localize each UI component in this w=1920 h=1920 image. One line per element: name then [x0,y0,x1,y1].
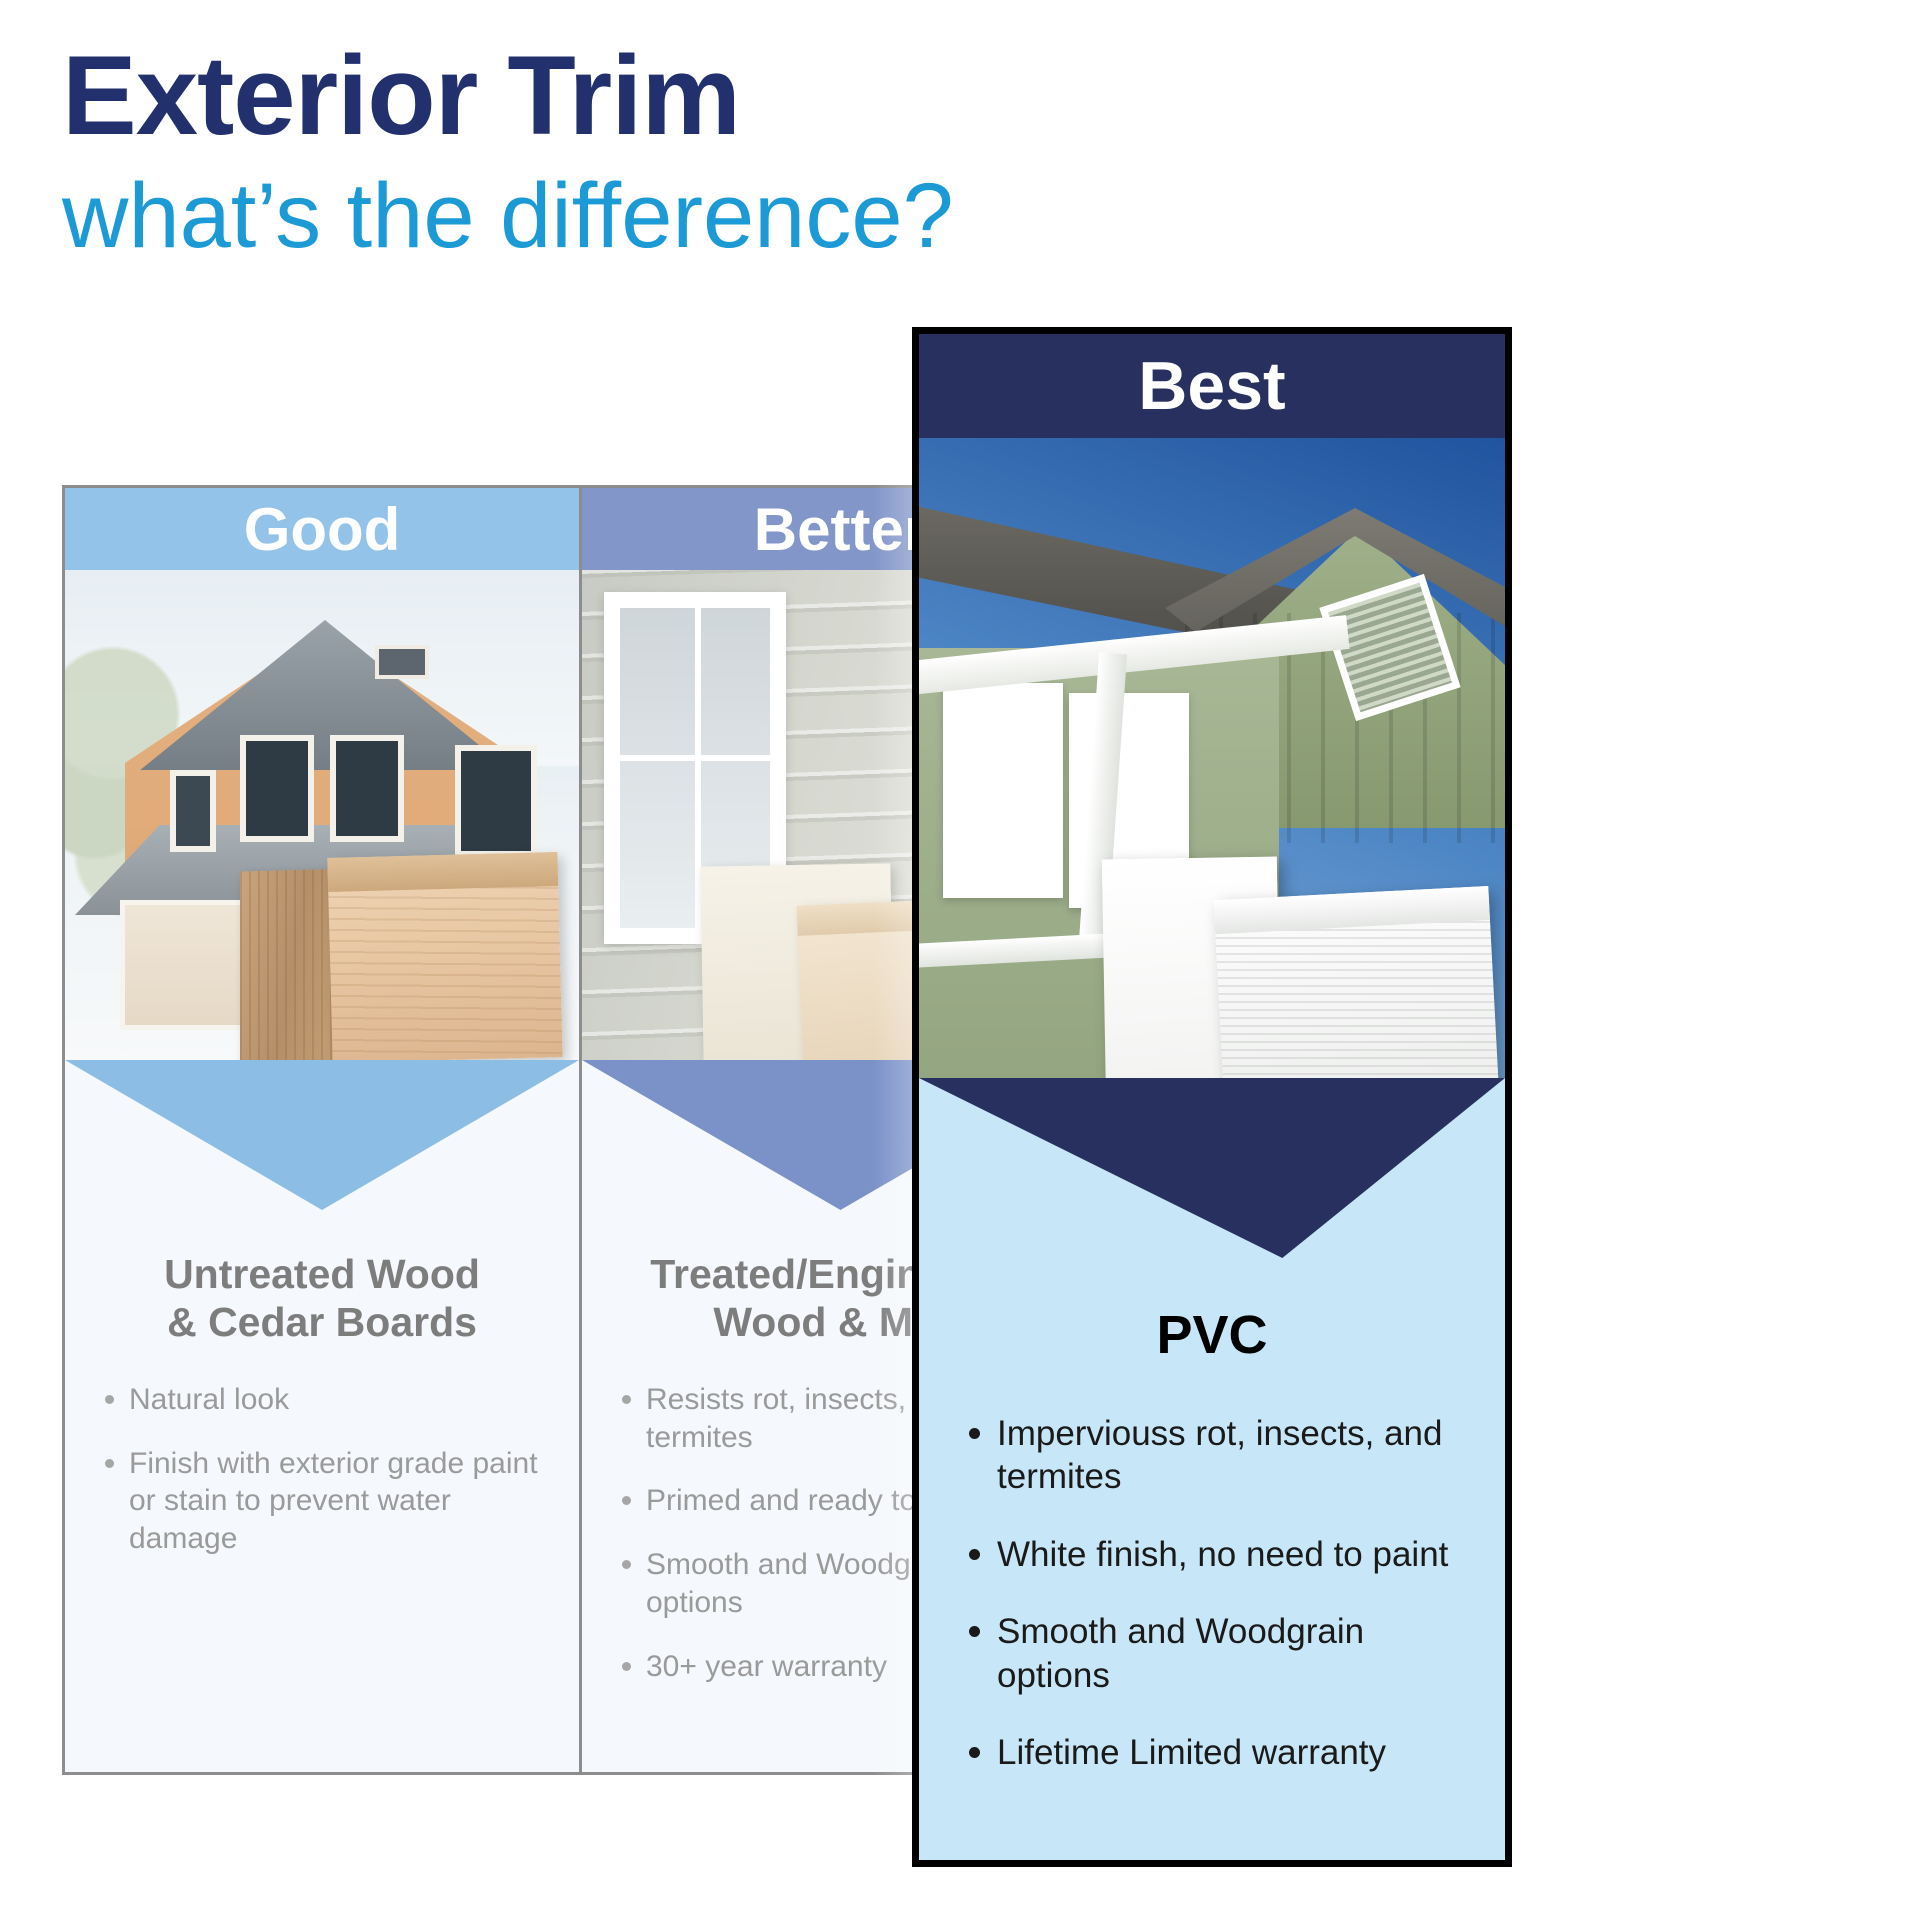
page-subtitle: what’s the difference? [62,168,1562,265]
column-good[interactable]: Good Untreated Wood & Cedar Boards [65,488,582,1772]
column-best-chevron [919,1078,1505,1258]
column-best-body: PVC Imperviouss rot, insects, and termit… [919,1258,1505,1774]
window-rail [620,755,770,761]
column-best[interactable]: Best PVC Imperviouss rot, insects, and t… [912,327,1512,1867]
column-best-title: PVC [963,1304,1461,1366]
column-best-rank-label: Best [919,334,1505,438]
list-item: Natural look [99,1381,545,1419]
house-window [455,745,537,857]
column-good-chevron [65,1060,579,1210]
house-window [240,735,314,842]
column-good-title-line2: & Cedar Boards [167,1299,477,1345]
roof-vent [375,645,429,679]
list-item: Finish with exterior grade paint or stai… [99,1445,545,1558]
white-window-trim [943,683,1063,898]
column-good-title-line1: Untreated Wood [164,1251,480,1297]
chevron-down-icon [919,1078,1505,1258]
list-item: Lifetime Limited warranty [963,1731,1461,1774]
column-good-photo [65,570,579,1060]
chevron-down-icon [65,1060,579,1210]
column-best-bullets: Imperviouss rot, insects, and termites W… [963,1412,1461,1774]
list-item: White finish, no need to paint [963,1533,1461,1576]
page-title: Exterior Trim [62,40,1562,152]
house-window [330,735,404,842]
column-good-bullets: Natural look Finish with exterior grade … [99,1381,545,1558]
page-header: Exterior Trim what’s the difference? [62,40,1562,265]
column-good-body: Untreated Wood & Cedar Boards Natural lo… [65,1210,579,1558]
column-good-title: Untreated Wood & Cedar Boards [99,1250,545,1347]
column-best-photo [919,438,1505,1078]
board-top-edge [327,852,558,892]
wood-trim-board-front [327,852,562,1060]
list-item: Imperviouss rot, insects, and termites [963,1412,1461,1499]
pvc-trim-board-woodgrain [1214,886,1500,1078]
house-window [170,770,216,852]
list-item: Smooth and Woodgrain options [963,1610,1461,1697]
column-good-rank-label: Good [65,488,579,570]
